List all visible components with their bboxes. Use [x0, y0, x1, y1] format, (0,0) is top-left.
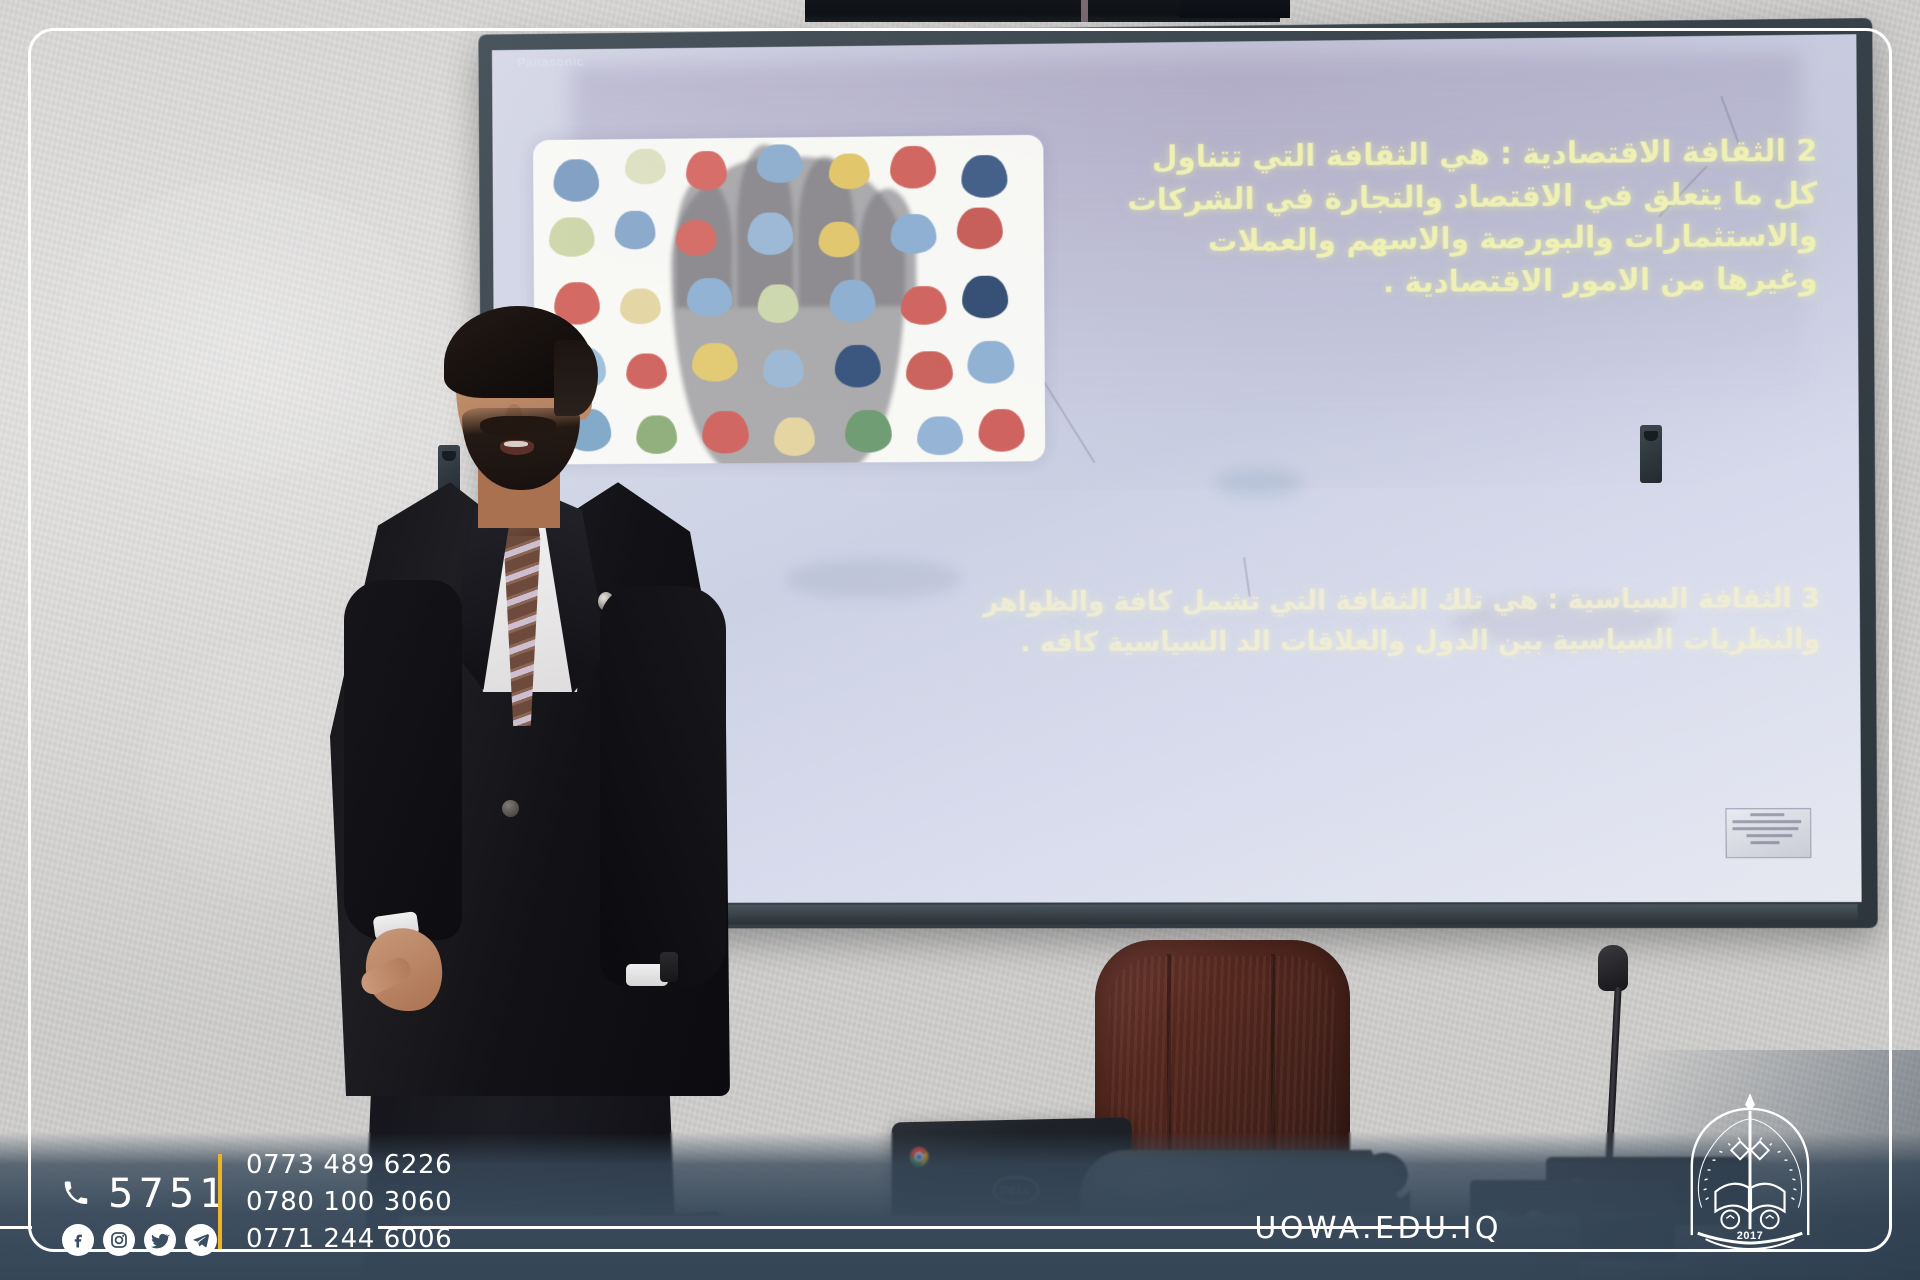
slide-paragraph-3: 3 الثقافة السياسية : هي تلك الثقافة التي… [873, 579, 1820, 663]
website-url[interactable]: UOWA.EDU.IQ [1254, 1211, 1502, 1246]
presenter-sleeve-right [600, 586, 726, 986]
slide-hand-print [962, 275, 1008, 318]
presenter [330, 300, 810, 1090]
contact-block: 5751 [62, 1174, 230, 1256]
footer-rule-left-stub [0, 1226, 32, 1229]
slide-hand-print [615, 210, 656, 249]
slide-hand-print [890, 146, 936, 189]
presenter-mouth [500, 440, 534, 455]
presenter-wristwatch [660, 952, 678, 982]
slide-hand-print [978, 409, 1024, 452]
slide-hand-print [549, 217, 595, 256]
phone-number: 0780 100 3060 [246, 1187, 452, 1217]
presenter-jacket-button [502, 800, 519, 817]
slide-hand-print [890, 214, 936, 254]
slide-hand-print [553, 159, 599, 202]
slide-hand-print [757, 144, 803, 184]
slide-hand-print [685, 151, 726, 190]
twitter-icon[interactable] [144, 1224, 176, 1256]
presenter-sleeve-left [344, 580, 462, 940]
slide-hand-print [829, 280, 875, 323]
slide-hand-print [747, 212, 793, 255]
slide-hand-print [917, 416, 963, 455]
slide-hand-print [624, 148, 665, 184]
phone-numbers-list: 0773 489 6226 0780 100 3060 0771 244 600… [246, 1150, 452, 1254]
slide-hand-print [968, 341, 1014, 384]
slide-hand-print [901, 286, 947, 325]
slide-hand-print [906, 351, 952, 390]
instagram-icon[interactable] [103, 1224, 135, 1256]
slide-hand-print [835, 345, 881, 388]
slide-hand-print [845, 410, 891, 453]
slide-hand-print [828, 153, 869, 189]
slide-paragraph-2: 2 الثقافة الاقتصادية : هي الثقافة التي ت… [1125, 131, 1818, 307]
whiteboard-spec-sticker [1725, 808, 1811, 858]
slide-hand-print [676, 219, 717, 255]
microphone-capsule [1598, 945, 1628, 991]
university-logo: 2017 [1676, 1088, 1824, 1258]
facebook-icon[interactable] [62, 1224, 94, 1256]
whiteboard-marker-holder-right [1640, 425, 1662, 483]
extension-number: 5751 [108, 1174, 230, 1214]
logo-founded-year: 2017 [1737, 1230, 1763, 1242]
footer-overlay: 5751 [0, 1132, 1920, 1280]
presenter-moustache [480, 416, 556, 438]
slide-hand-print [961, 155, 1007, 198]
telegram-icon[interactable] [185, 1224, 217, 1256]
slide-hand-print [818, 221, 859, 257]
photo-card: Panasonic [0, 0, 1920, 1280]
footer-divider [218, 1154, 222, 1252]
slide-hand-print [956, 207, 1002, 250]
phone-number: 0773 489 6226 [246, 1150, 452, 1180]
social-links[interactable] [62, 1224, 230, 1256]
phone-icon [62, 1179, 92, 1209]
ceiling-rail-segment [1180, 0, 1290, 18]
